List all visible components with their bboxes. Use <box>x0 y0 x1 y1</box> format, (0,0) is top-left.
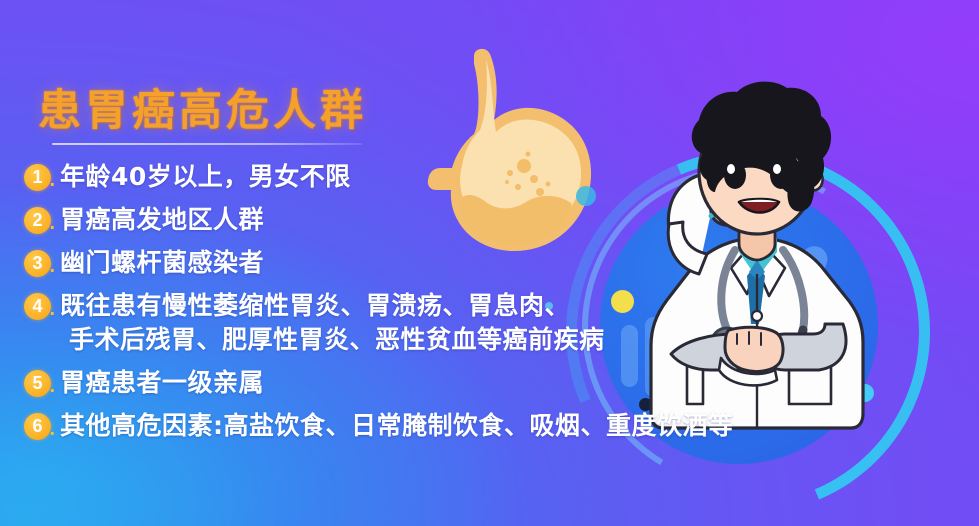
list-item-text: 胃癌患者一级亲属 <box>53 366 264 400</box>
list-item: 5. 胃癌患者一级亲属 <box>24 366 824 400</box>
list-item-badge: 1. <box>24 164 51 191</box>
list-item: 1. 年龄40岁以上，男女不限 <box>24 160 824 194</box>
list-item-text: 其他高危因素:高盐饮食、日常腌制饮食、吸烟、重度饮酒等 <box>53 409 734 443</box>
list-item: 3. 幽门螺杆菌感染者 <box>24 246 824 280</box>
badge-period: . <box>49 213 55 233</box>
list-item: 4. 既往患有慢性萎缩性胃炎、胃溃疡、胃息肉、 手术后残胃、肥厚性胃炎、恶性贫血… <box>24 289 824 357</box>
badge-period: . <box>49 376 55 396</box>
list-item: 6. 其他高危因素:高盐饮食、日常腌制饮食、吸烟、重度饮酒等 <box>24 409 824 443</box>
badge-period: . <box>49 299 55 319</box>
list-item-badge: 4. <box>24 293 51 320</box>
list-item-text: 幽门螺杆菌感染者 <box>53 246 264 280</box>
risk-group-list: 1. 年龄40岁以上，男女不限 2. 胃癌高发地区人群 3. 幽门螺杆菌感染者 … <box>24 160 824 452</box>
infographic-poster: 患胃癌高危人群 1. 年龄40岁以上，男女不限 2. 胃癌高发地区人群 3. 幽… <box>0 0 979 526</box>
list-item-badge: 5. <box>24 370 51 397</box>
list-item: 2. 胃癌高发地区人群 <box>24 203 824 237</box>
badge-period: . <box>49 256 55 276</box>
page-title: 患胃癌高危人群 <box>38 76 367 138</box>
list-item-text: 年龄40岁以上，男女不限 <box>53 160 351 194</box>
list-item-badge: 3. <box>24 250 51 277</box>
badge-period: . <box>49 170 55 190</box>
title-divider <box>52 143 362 145</box>
list-item-badge: 6. <box>24 413 51 440</box>
list-item-text: 胃癌高发地区人群 <box>53 203 264 237</box>
list-item-text: 既往患有慢性萎缩性胃炎、胃溃疡、胃息肉、 <box>53 289 570 323</box>
list-item-badge: 2. <box>24 207 51 234</box>
badge-period: . <box>49 419 55 439</box>
list-item-text-continuation: 手术后残胃、肥厚性胃炎、恶性贫血等癌前疾病 <box>24 323 605 357</box>
